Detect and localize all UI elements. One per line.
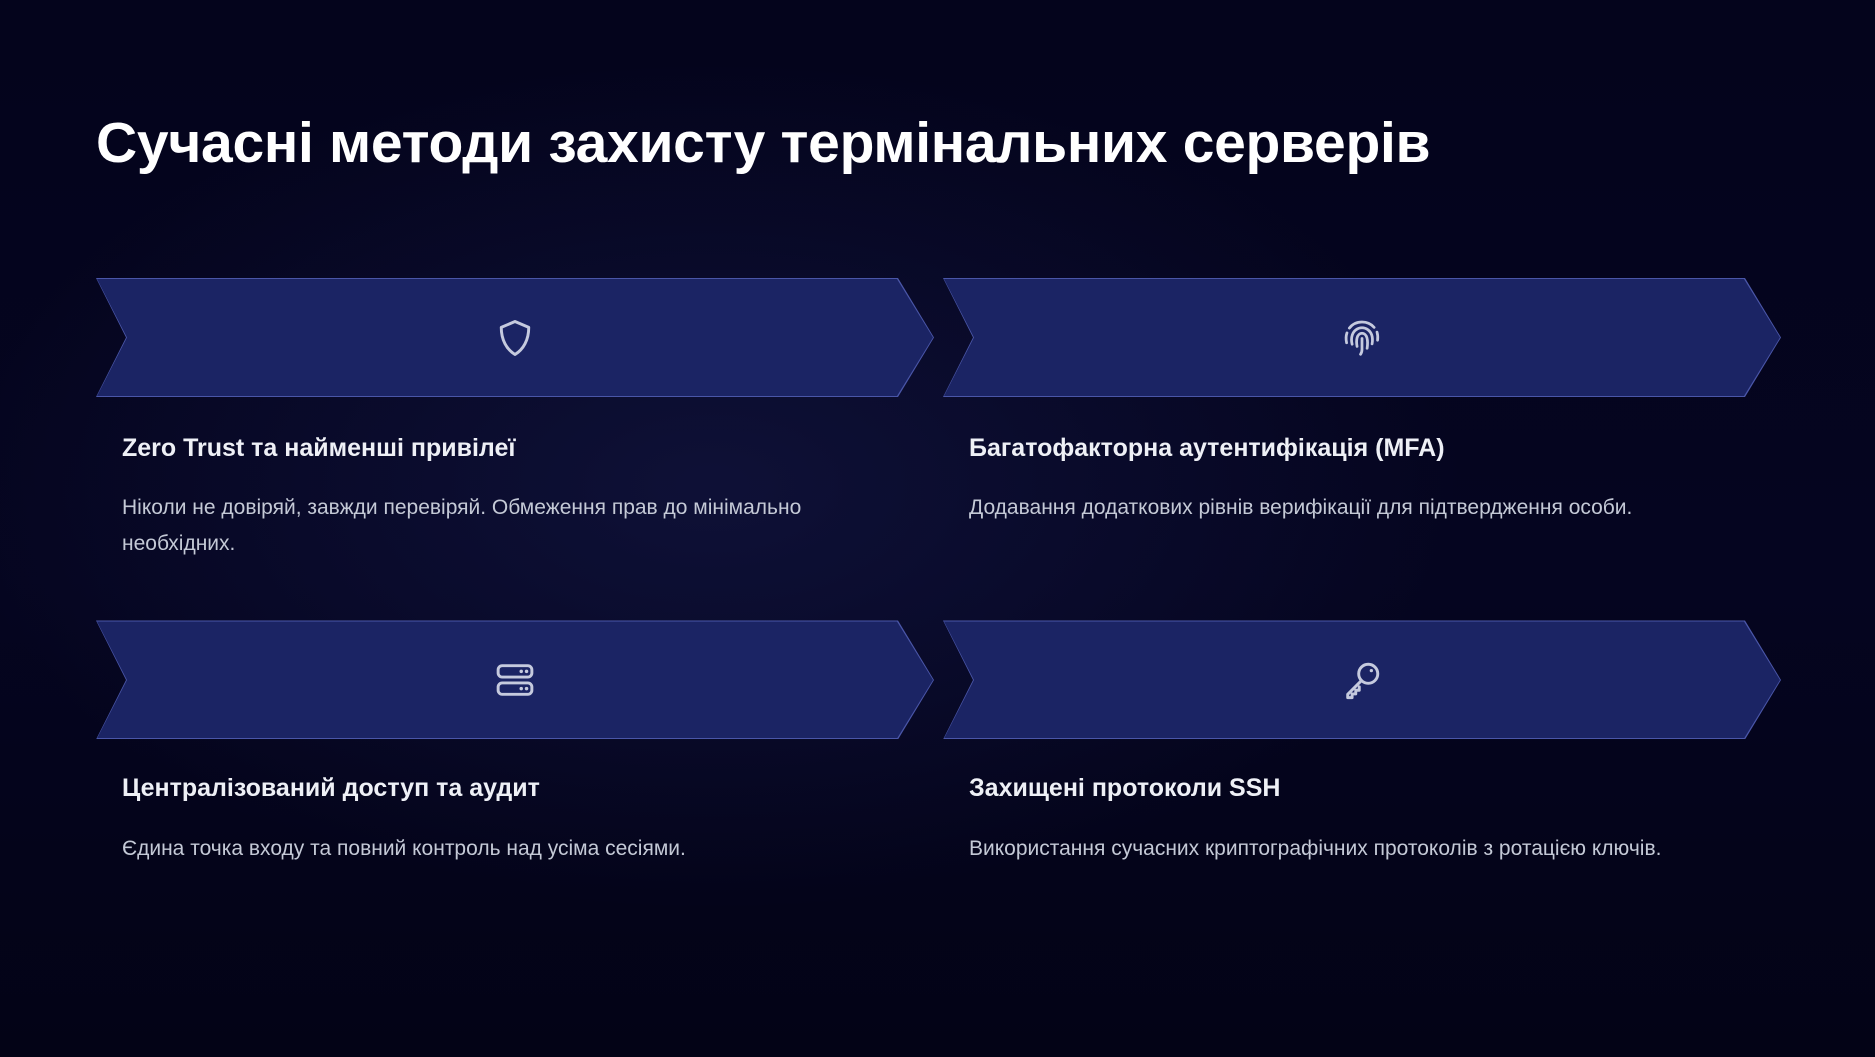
fingerprint-icon [1340, 316, 1384, 360]
card-banner [96, 620, 934, 739]
card-body: Централізований доступ та аудит Єдина то… [96, 739, 934, 866]
card-title: Централізований доступ та аудит [122, 773, 908, 804]
card-description: Єдина точка входу та повний контроль над… [122, 831, 908, 867]
card-title: Захищені протоколи SSH [969, 773, 1755, 804]
card-body: Захищені протоколи SSH Використання суча… [943, 739, 1781, 866]
card-body: Zero Trust та найменші привілеї Ніколи н… [96, 397, 934, 562]
card-title: Zero Trust та найменші привілеї [122, 433, 908, 464]
feature-grid-page: Сучасні методи захисту термінальних серв… [0, 0, 1875, 1057]
feature-card-zero-trust[interactable]: Zero Trust та найменші привілеї Ніколи н… [96, 278, 934, 562]
card-title: Багатофакторна аутентифікація (MFA) [969, 433, 1755, 464]
feature-card-grid: Zero Trust та найменші привілеї Ніколи н… [96, 278, 1781, 867]
feature-card-ssh[interactable]: Захищені протоколи SSH Використання суча… [943, 620, 1781, 866]
server-rack-icon [493, 658, 537, 702]
feature-card-mfa[interactable]: Багатофакторна аутентифікація (MFA) Дода… [943, 278, 1781, 562]
card-banner [943, 278, 1781, 397]
key-icon [1340, 658, 1384, 702]
card-description: Додавання додаткових рівнів верифікації … [969, 490, 1755, 526]
card-body: Багатофакторна аутентифікація (MFA) Дода… [943, 397, 1781, 526]
page-title: Сучасні методи захисту термінальних серв… [96, 112, 1430, 176]
card-banner [96, 278, 934, 397]
card-description: Ніколи не довіряй, завжди перевіряй. Обм… [122, 490, 908, 562]
card-banner [943, 620, 1781, 739]
shield-icon [493, 316, 537, 360]
card-description: Використання сучасних криптографічних пр… [969, 831, 1755, 867]
grid-row-spacer [96, 562, 1781, 620]
feature-card-centralized-access[interactable]: Централізований доступ та аудит Єдина то… [96, 620, 934, 866]
